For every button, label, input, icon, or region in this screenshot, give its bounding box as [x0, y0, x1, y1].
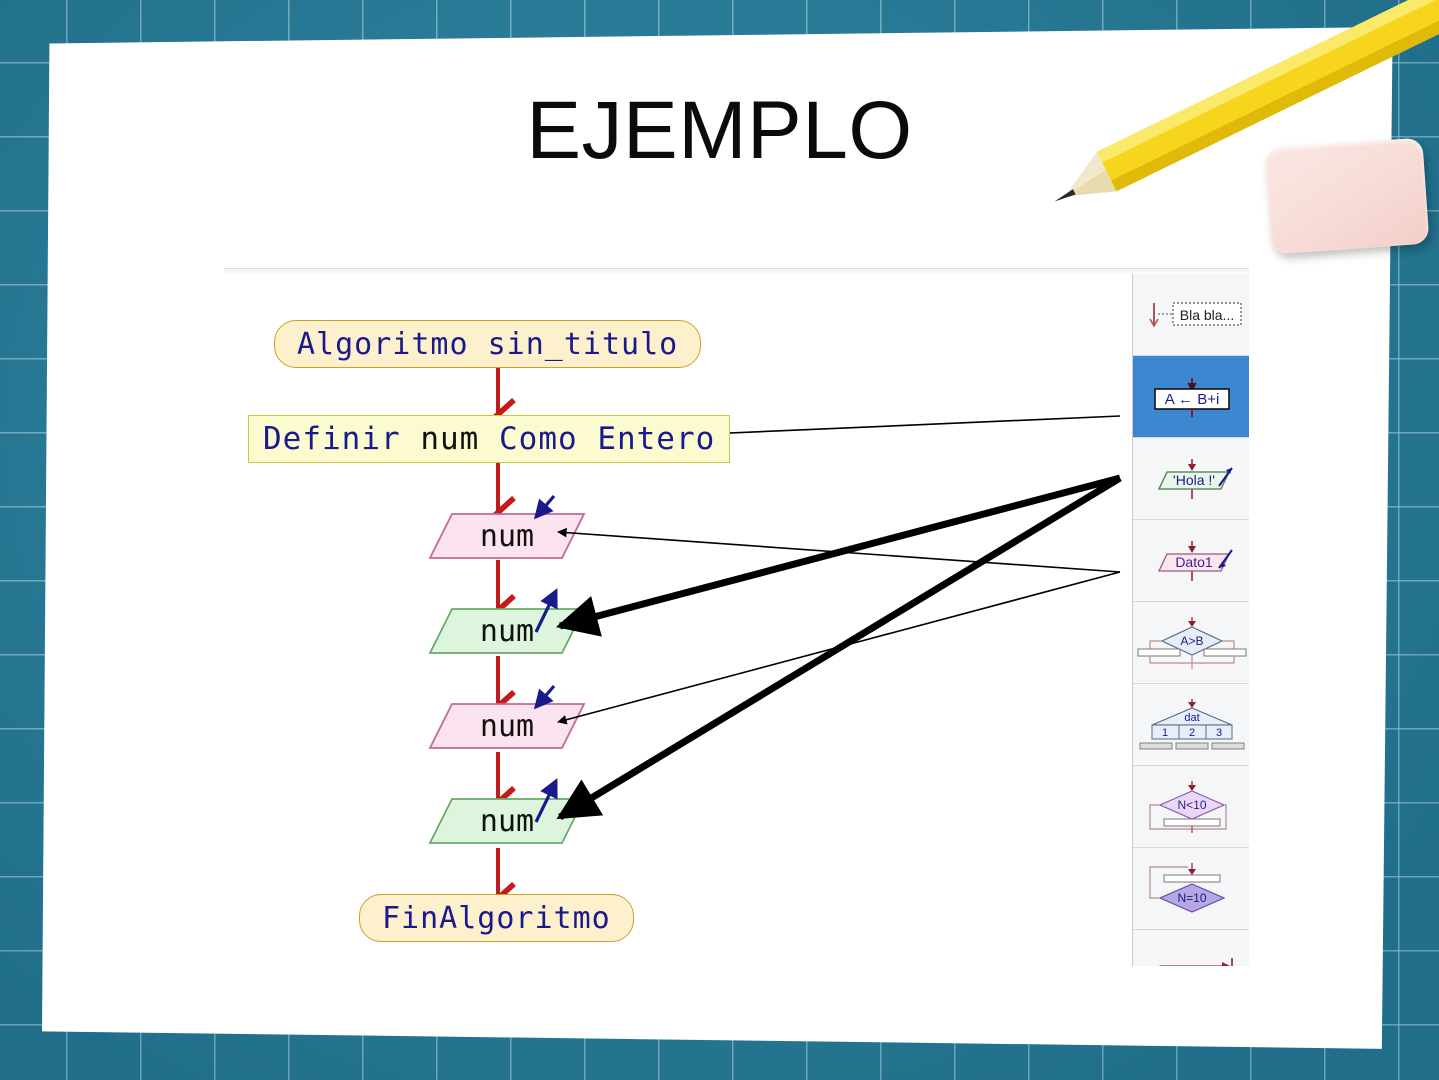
- palette-item-read-tool[interactable]: Dato1: [1133, 520, 1249, 602]
- palette-item-switch-tool[interactable]: dat 1 2 3: [1133, 684, 1249, 766]
- node-write-2[interactable]: num: [443, 793, 571, 849]
- palette-switch-case-1: 1: [1161, 727, 1167, 739]
- palette-switch-case-3: 3: [1215, 727, 1221, 739]
- palette-label-read: Dato1: [1175, 554, 1213, 570]
- palette-label-repeat: N=10: [1177, 891, 1206, 905]
- define-keyword-b: Como Entero: [499, 421, 715, 457]
- palette-item-for-tool[interactable]: [1133, 930, 1249, 966]
- arrow-to-write1: [560, 478, 1120, 626]
- node-write-1[interactable]: num: [443, 603, 571, 659]
- palette-label-assign: A ← B+i: [1164, 391, 1219, 408]
- palette-label-switch: dat: [1184, 712, 1199, 724]
- palette-switch-case-2: 2: [1188, 727, 1194, 739]
- palette-item-write-tool[interactable]: 'Hola !': [1133, 438, 1249, 520]
- pseint-screenshot: Algoritmo sin_titulo Definir num Como En…: [224, 268, 1249, 966]
- node-end[interactable]: FinAlgoritmo: [359, 894, 634, 942]
- node-define[interactable]: Definir num Como Entero: [248, 415, 730, 463]
- annotation-arrows: [546, 416, 1120, 817]
- palette-label-while: N<10: [1177, 798, 1206, 812]
- arrow-to-write2: [560, 478, 1120, 817]
- palette-label-comment: Bla bla...: [1179, 307, 1233, 323]
- define-keyword-a: Definir: [263, 421, 401, 457]
- palette-item-repeat-until-tool[interactable]: N=10: [1133, 848, 1249, 930]
- palette-label-if: A>B: [1180, 634, 1203, 648]
- shape-palette[interactable]: Bla bla... A ← B+i 'Hola !': [1132, 274, 1249, 966]
- node-read-2[interactable]: num: [443, 698, 571, 754]
- define-variable: num: [420, 421, 479, 457]
- eraser-decoration: [1264, 138, 1429, 255]
- palette-item-assign-tool[interactable]: A ← B+i: [1133, 356, 1249, 438]
- palette-item-if-tool[interactable]: A>B: [1133, 602, 1249, 684]
- node-start[interactable]: Algoritmo sin_titulo: [274, 320, 701, 368]
- node-read-1[interactable]: num: [443, 508, 571, 564]
- palette-item-comment-tool[interactable]: Bla bla...: [1133, 274, 1249, 356]
- palette-item-while-tool[interactable]: N<10: [1133, 766, 1249, 848]
- palette-label-write: 'Hola !': [1173, 472, 1215, 488]
- flowchart-canvas[interactable]: Algoritmo sin_titulo Definir num Como En…: [224, 274, 1132, 966]
